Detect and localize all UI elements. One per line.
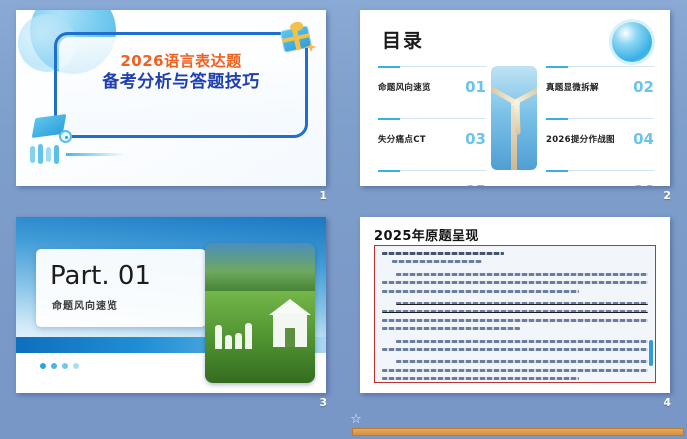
bar-chart-icon <box>30 144 124 164</box>
slide-cell-4[interactable]: 2025年原题呈现 <box>344 207 687 412</box>
bar-1 <box>30 146 35 163</box>
star-icon[interactable]: ☆ <box>349 413 363 427</box>
doc-line <box>382 290 579 293</box>
dot-3[interactable] <box>62 363 68 369</box>
title-line-2: 备考分析与答题技巧 <box>54 72 308 94</box>
toc-item-03[interactable]: 失分痛点CT 03 <box>378 118 486 152</box>
slide-number-2: 2 <box>663 189 671 202</box>
toc-item-number: 02 <box>633 78 654 96</box>
section-part-label: Part. 01 <box>50 261 151 291</box>
figure-adult-2 <box>245 323 252 349</box>
doc-line <box>382 252 504 255</box>
toc-item-label: 2026提分作战图 <box>546 133 615 145</box>
figure-child-1 <box>225 335 232 349</box>
doc-line-underlined <box>396 302 648 305</box>
dot-2[interactable] <box>51 363 57 369</box>
doc-line <box>392 260 482 263</box>
tree-line <box>205 243 315 295</box>
family-and-house-photo <box>205 243 315 383</box>
doc-line <box>396 273 648 276</box>
toc-item-number: 06 <box>633 182 654 187</box>
toc-item-number: 03 <box>465 130 486 148</box>
slide-3-section-divider[interactable]: Part. 01 命题风向速览 <box>16 217 326 393</box>
toc-item-label: 真题显微拆解 <box>546 81 599 93</box>
doc-line <box>382 319 648 322</box>
doc-line <box>382 327 520 330</box>
family-silhouette-icon <box>215 323 252 349</box>
toc-item-label: 总结与展望 <box>546 185 590 187</box>
doc-line-underlined <box>382 310 648 313</box>
toc-item-02[interactable]: 真题显微拆解 02 <box>546 66 654 100</box>
doc-line <box>396 340 648 343</box>
dot-1[interactable] <box>40 363 46 369</box>
bar-2 <box>38 144 43 164</box>
figure-child-2 <box>235 333 242 349</box>
section-subtitle: 命题风向速览 <box>52 297 118 312</box>
house-door-icon <box>285 328 295 347</box>
presentation-thumbnail-grid: 2026语言表达题 备考分析与答题技巧 1 <box>0 0 687 439</box>
document-scrollbar[interactable] <box>649 340 653 366</box>
gift-box-icon <box>278 18 318 58</box>
blue-sphere-icon <box>612 22 652 62</box>
book-icon <box>28 110 74 144</box>
slide-cell-1[interactable]: 2026语言表达题 备考分析与答题技巧 1 <box>0 0 343 205</box>
doc-line <box>382 348 648 351</box>
slide-number-4: 4 <box>663 396 671 409</box>
doc-gap <box>382 336 648 340</box>
progress-dots[interactable] <box>40 363 79 369</box>
book-seal-icon <box>59 130 72 143</box>
slide-number-1: 1 <box>319 189 327 202</box>
doc-line <box>382 369 648 372</box>
toc-item-01[interactable]: 命题风向速览 01 <box>378 66 486 100</box>
wind-turbine-photo <box>491 66 537 170</box>
slide-cell-3[interactable]: Part. 01 命题风向速览 <box>0 207 343 412</box>
bar-3 <box>46 147 51 162</box>
turbine-blade-3 <box>514 101 520 135</box>
doc-line <box>382 377 579 380</box>
toc-item-04[interactable]: 2026提分作战图 04 <box>546 118 654 152</box>
toc-item-06[interactable]: 总结与展望 06 <box>546 170 654 186</box>
toc-column-right: 真题显微拆解 02 2026提分作战图 04 总结与展望 06 <box>546 66 654 186</box>
title-line-1: 2026语言表达题 <box>54 52 308 71</box>
toc-item-label: 命题风向速览 <box>378 81 431 93</box>
toc-item-label: 教学反馈闭环 <box>378 185 431 187</box>
toc-item-number: 05 <box>465 182 486 187</box>
section-card: Part. 01 命题风向速览 <box>36 249 206 327</box>
toc-title: 目录 <box>382 26 424 53</box>
page-title: 2026语言表达题 备考分析与答题技巧 <box>54 52 308 94</box>
toc-item-number: 04 <box>633 130 654 148</box>
slide-4-document[interactable]: 2025年原题呈现 <box>360 217 670 393</box>
slide-number-3: 3 <box>319 396 327 409</box>
toc-item-05[interactable]: 教学反馈闭环 05 <box>378 170 486 186</box>
slide-2-toc[interactable]: 目录 命题风向速览 01 失分痛点CT 03 教学反馈闭环 <box>360 10 670 186</box>
dot-4[interactable] <box>73 363 79 369</box>
toc-item-label: 失分痛点CT <box>378 133 426 145</box>
bar-baseline <box>66 153 124 156</box>
document-slide-title: 2025年原题呈现 <box>374 225 479 244</box>
toc-item-number: 01 <box>465 78 486 96</box>
doc-line <box>396 360 648 363</box>
slide-1-title[interactable]: 2026语言表达题 备考分析与答题技巧 <box>16 10 326 186</box>
figure-adult-1 <box>215 325 222 349</box>
doc-line <box>382 281 648 284</box>
exam-document-body <box>374 245 656 383</box>
orange-accent-bar <box>352 428 684 436</box>
toc-column-left: 命题风向速览 01 失分痛点CT 03 教学反馈闭环 05 <box>378 66 486 186</box>
bar-4 <box>54 145 59 164</box>
slide-cell-2[interactable]: 目录 命题风向速览 01 失分痛点CT 03 教学反馈闭环 <box>344 0 687 205</box>
